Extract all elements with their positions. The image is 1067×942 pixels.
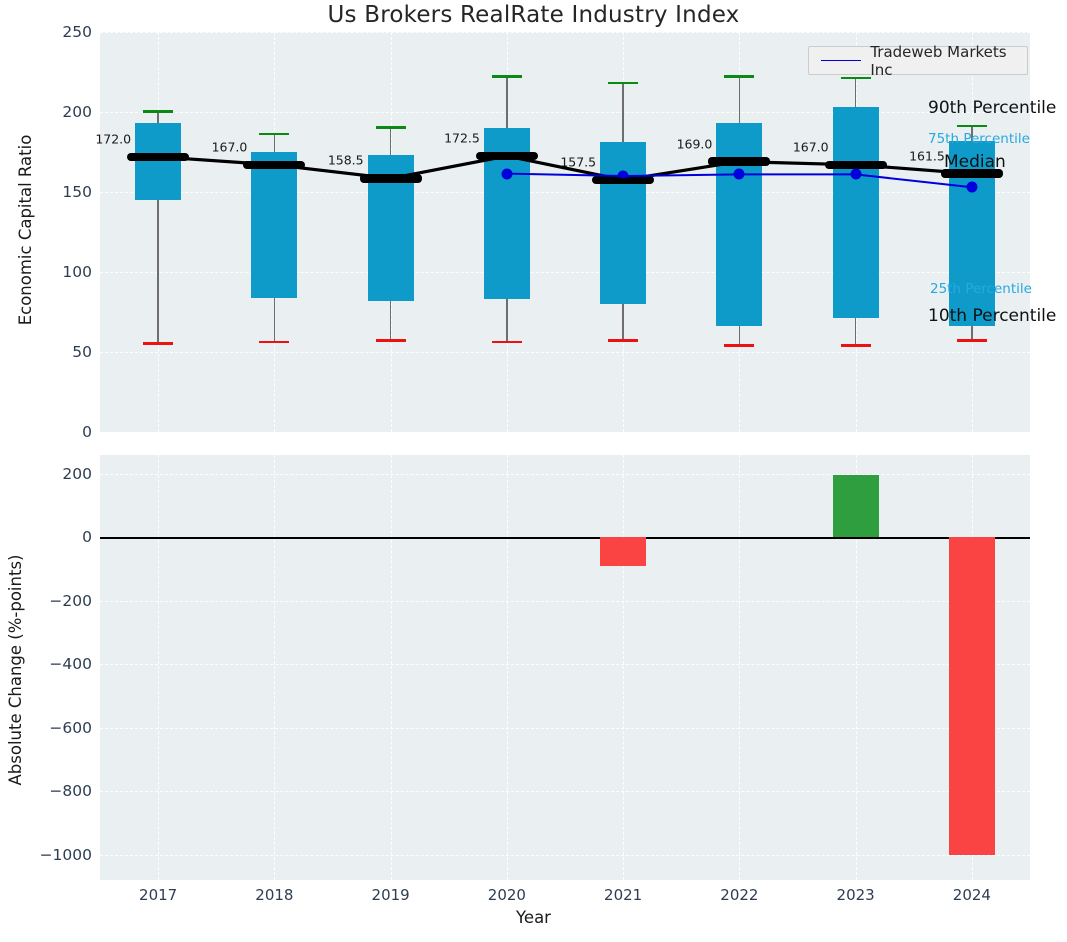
gridline-horizontal-bottom xyxy=(100,601,1030,602)
y-tick-label-bottom: −1000 xyxy=(0,846,92,864)
change-bar-increase xyxy=(833,475,879,537)
cap-10th-percentile xyxy=(841,344,871,347)
tradeweb-data-point xyxy=(734,169,745,180)
change-bar-decrease xyxy=(949,537,995,854)
y-tick-label-bottom: 200 xyxy=(0,465,92,483)
median-marker xyxy=(360,174,422,183)
gridline-horizontal-top xyxy=(100,272,1030,273)
y-tick-label-top: 150 xyxy=(0,183,92,201)
box-interquartile xyxy=(716,123,762,326)
zero-reference-line xyxy=(100,537,1030,539)
y-tick-label-bottom: −200 xyxy=(0,592,92,610)
x-tick-label: 2017 xyxy=(139,886,177,904)
annotation-25th-percentile: 25th Percentile xyxy=(930,281,1032,297)
box-interquartile xyxy=(135,123,181,200)
x-tick-label: 2018 xyxy=(255,886,293,904)
y-tick-label-bottom: 0 xyxy=(0,528,92,546)
box-interquartile xyxy=(833,107,879,318)
x-tick-label: 2020 xyxy=(488,886,526,904)
median-marker xyxy=(476,152,538,161)
x-tick-label: 2023 xyxy=(837,886,875,904)
cap-90th-percentile xyxy=(608,82,638,85)
median-value-label: 161.5 xyxy=(909,148,945,163)
gridline-vertical-bottom xyxy=(739,455,740,880)
cap-10th-percentile xyxy=(259,341,289,344)
median-marker xyxy=(243,161,305,170)
chart-title: Us Brokers RealRate Industry Index xyxy=(0,2,1067,28)
annotation-median: Median xyxy=(944,152,1006,172)
x-tick-label: 2021 xyxy=(604,886,642,904)
gridline-horizontal-top xyxy=(100,352,1030,353)
y-tick-label-bottom: −400 xyxy=(0,655,92,673)
bottom-panel-plot-area xyxy=(100,455,1030,880)
median-value-label: 169.0 xyxy=(677,136,713,151)
gridline-vertical-bottom xyxy=(158,455,159,880)
cap-10th-percentile xyxy=(492,341,522,344)
chart-root: Us Brokers RealRate Industry Index Econo… xyxy=(0,0,1067,942)
annotation-75th-percentile: 75th Percentile xyxy=(928,131,1030,147)
cap-10th-percentile xyxy=(143,342,173,345)
y-tick-label-bottom: −600 xyxy=(0,719,92,737)
median-value-label: 158.5 xyxy=(328,153,364,168)
gridline-vertical-bottom xyxy=(391,455,392,880)
x-axis-label: Year xyxy=(0,908,1067,927)
y-tick-label-top: 50 xyxy=(0,343,92,361)
y-tick-label-bottom: −800 xyxy=(0,782,92,800)
gridline-horizontal-bottom xyxy=(100,474,1030,475)
cap-10th-percentile xyxy=(608,339,638,342)
gridline-horizontal-bottom xyxy=(100,664,1030,665)
legend-line-swatch xyxy=(821,60,861,61)
y-tick-label-top: 250 xyxy=(0,23,92,41)
cap-90th-percentile xyxy=(724,75,754,78)
gridline-vertical-bottom xyxy=(507,455,508,880)
cap-90th-percentile xyxy=(492,75,522,78)
cap-10th-percentile xyxy=(724,344,754,347)
x-tick-label: 2024 xyxy=(953,886,991,904)
gridline-horizontal-bottom xyxy=(100,791,1030,792)
change-bar-decrease xyxy=(600,537,646,566)
gridline-vertical-bottom xyxy=(623,455,624,880)
cap-90th-percentile xyxy=(259,133,289,136)
gridline-horizontal-bottom xyxy=(100,855,1030,856)
gridline-horizontal-bottom xyxy=(100,728,1030,729)
cap-10th-percentile xyxy=(376,339,406,342)
gridline-horizontal-top xyxy=(100,432,1030,433)
median-marker xyxy=(708,157,770,166)
median-marker xyxy=(127,153,189,162)
median-value-label: 172.5 xyxy=(444,131,480,146)
gridline-horizontal-top xyxy=(100,192,1030,193)
y-tick-label-top: 0 xyxy=(0,423,92,441)
gridline-horizontal-top xyxy=(100,32,1030,33)
median-value-label: 157.5 xyxy=(560,155,596,170)
median-value-label: 172.0 xyxy=(95,131,131,146)
x-tick-label: 2019 xyxy=(372,886,410,904)
cap-90th-percentile xyxy=(143,110,173,113)
median-value-label: 167.0 xyxy=(793,139,829,154)
legend-label-tradeweb: Tradeweb Markets Inc xyxy=(870,43,1027,79)
tradeweb-data-point xyxy=(501,168,512,179)
x-tick-label: 2022 xyxy=(720,886,758,904)
top-panel-plot-area xyxy=(100,32,1030,432)
legend: Tradeweb Markets Inc xyxy=(808,46,1028,75)
cap-90th-percentile xyxy=(376,126,406,129)
median-marker xyxy=(825,161,887,170)
cap-90th-percentile xyxy=(957,125,987,128)
gridline-horizontal-top xyxy=(100,112,1030,113)
y-tick-label-top: 100 xyxy=(0,263,92,281)
cap-90th-percentile xyxy=(841,77,871,80)
median-value-label: 167.0 xyxy=(212,139,248,154)
cap-10th-percentile xyxy=(957,339,987,342)
tradeweb-data-point xyxy=(850,169,861,180)
annotation-10th-percentile: 10th Percentile xyxy=(928,306,1056,326)
gridline-vertical-bottom xyxy=(274,455,275,880)
tradeweb-data-point xyxy=(618,171,629,182)
y-tick-label-top: 200 xyxy=(0,103,92,121)
box-interquartile xyxy=(251,152,297,298)
box-interquartile xyxy=(600,142,646,304)
annotation-90th-percentile: 90th Percentile xyxy=(928,98,1056,118)
tradeweb-data-point xyxy=(966,182,977,193)
